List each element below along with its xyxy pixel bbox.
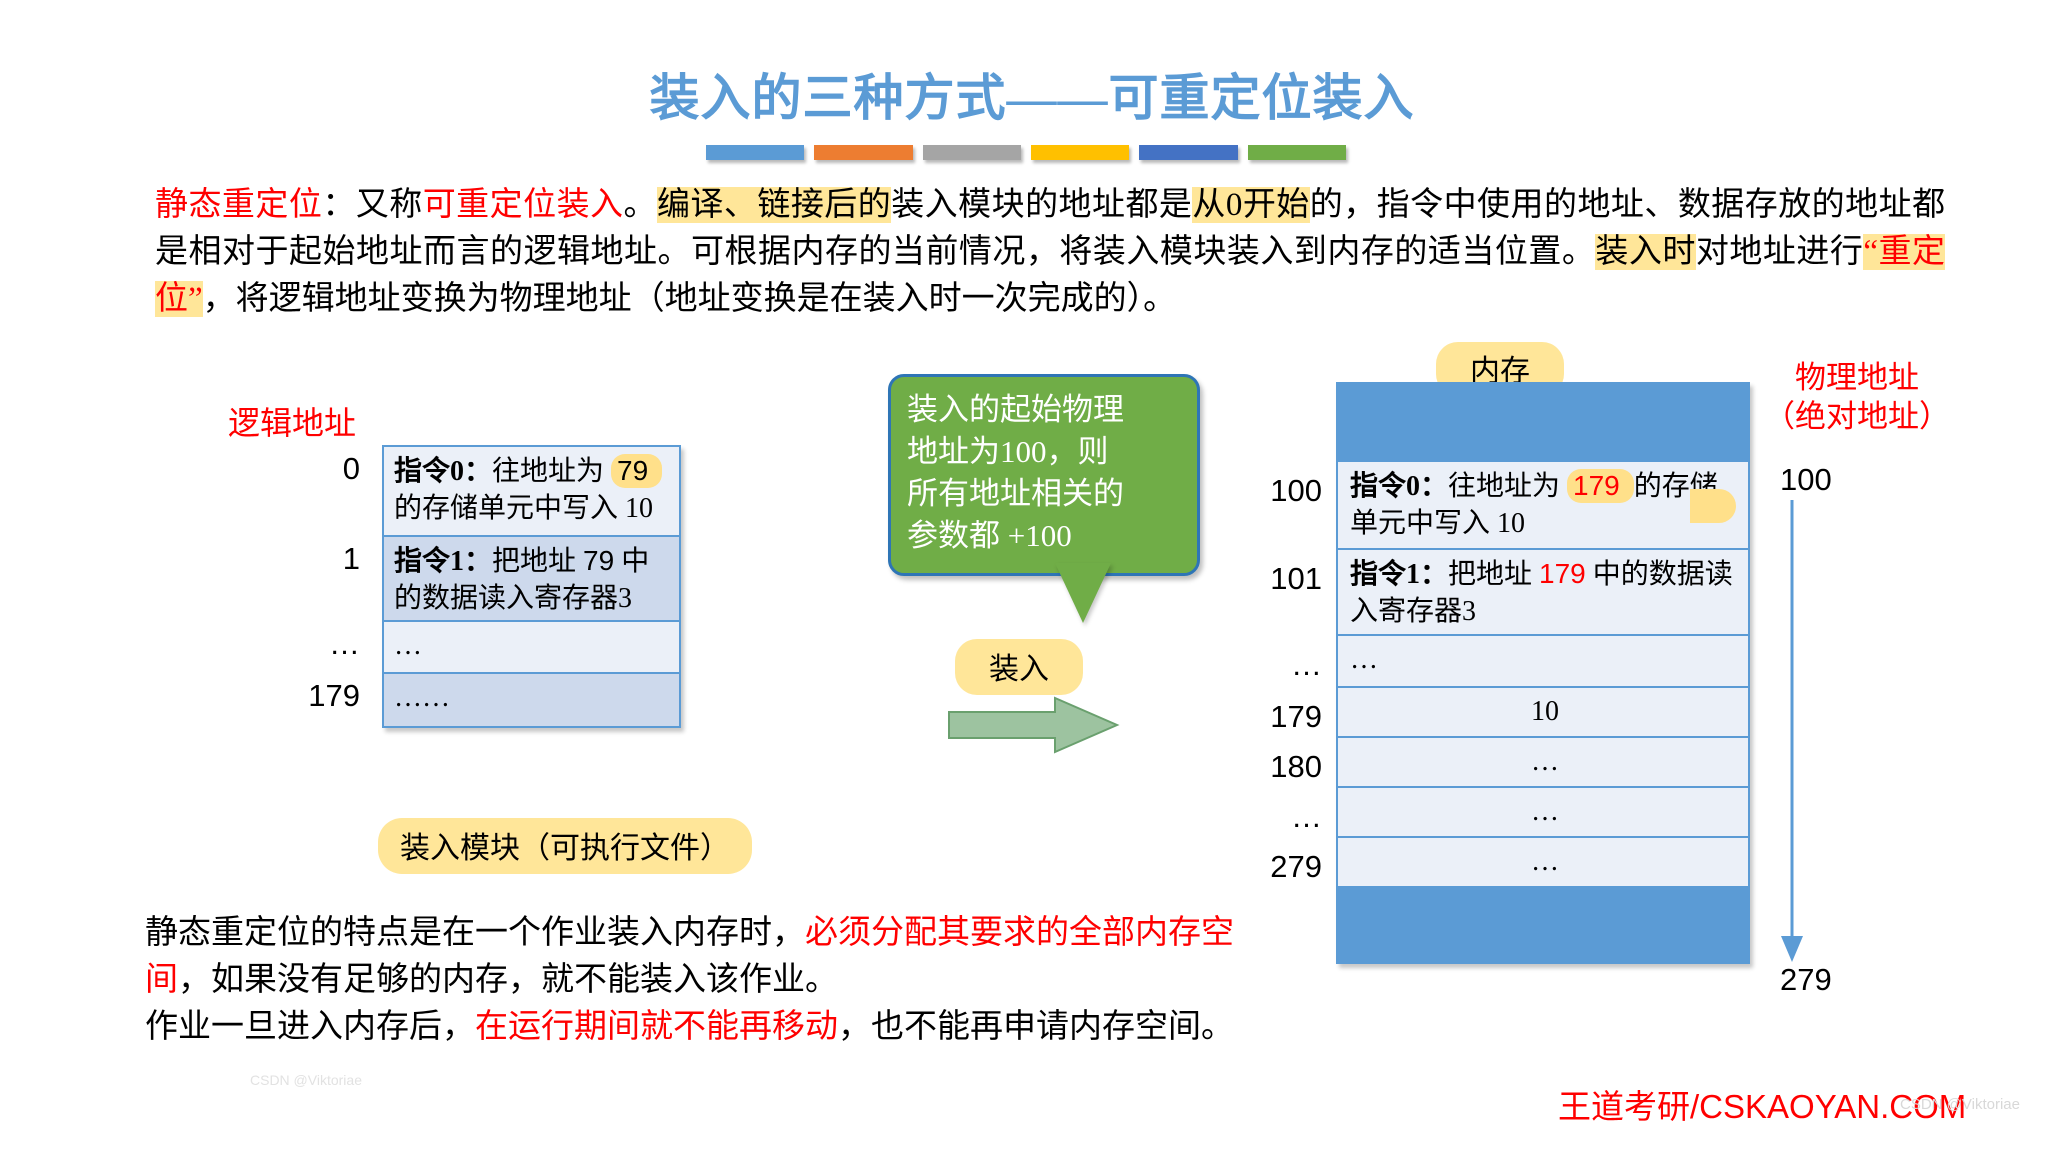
physical-address-line1: 物理地址 [1764,358,1950,397]
summary-p1a: 静态重定位的特点是在一个作业装入内存时， [145,915,805,951]
logical-row1-addr: 79 [583,545,614,576]
text-seg6: ，将逻辑地址变换为物理地址（地址变换是在装入时一次完成的）。 [203,281,1177,317]
punct-colon: ： [322,187,355,223]
text-seg2: 。 [624,187,657,223]
memory-row1-addr: 179 [1567,469,1634,503]
text-seg5: 对地址进行 [1696,234,1864,270]
table-row: 指令0：往地址为 179的存储单元中写入 10 [1338,462,1748,550]
text-seg1: 又称 [356,187,423,223]
memory-addr-180: 180 [1222,746,1322,796]
physical-address-marker-100: 100 [1780,462,1832,498]
load-arrow-icon [945,690,1125,760]
logical-row3-tail: …… [394,682,450,713]
table-row-reserved-top [1338,384,1748,462]
memory-row2-prefix: 指令1： [1350,559,1448,590]
bar-green [1248,145,1346,160]
table-row: … [1338,636,1748,688]
table-row: 10 [1338,688,1748,738]
logical-row0-tail: 的存储单元中写入 10 [394,493,653,524]
callout-line-4: 参数都 +100 [907,515,1183,557]
callout-box: 装入的起始物理 地址为100，则 所有地址相关的 参数都 +100 [888,374,1200,576]
callout-line-2: 地址为100，则 [907,431,1183,473]
decorative-color-bars [706,145,1346,160]
table-row: …… [384,674,679,726]
table-row-reserved-bottom [1338,888,1748,962]
page-title: 装入的三种方式——可重定位装入 [0,58,2064,130]
memory-addr-179: 179 [1222,696,1322,746]
summary-paragraph: 静态重定位的特点是在一个作业装入内存时，必须分配其要求的全部内存空间，如果没有足… [145,910,1235,1051]
highlight-start-from-zero: 从0开始 [1192,187,1309,223]
table-row: … [1338,838,1748,888]
intro-paragraph: 静态重定位：又称可重定位装入。编译、链接后的装入模块的地址都是从0开始的，指令中… [155,182,1945,323]
bar-yellow [1031,145,1129,160]
bar-orange [814,145,912,160]
callout-line-3: 所有地址相关的 [907,473,1183,515]
memory-row1-mid: 往地址为 [1448,471,1567,502]
address-range-arrow-icon [1778,500,1818,970]
text-seg3: 装入模块的地址都是 [891,187,1192,223]
bar-blue [706,145,804,160]
load-module-table: 指令0：往地址为 79的存储单元中写入 10 指令1：把地址 79 中的数据读入… [382,445,681,728]
memory-addr-100: 100 [1222,470,1322,558]
table-row: … [1338,738,1748,788]
physical-address-line2: （绝对地址） [1764,397,1950,436]
logical-row0-mid: 往地址为 [492,456,611,487]
memory-address-column: 100 101 … 179 180 … 279 [1222,470,1322,896]
logical-row0-addr: 79 [611,454,662,488]
highlight-compile-link: 编译、链接后的 [657,187,891,223]
callout-line-1: 装入的起始物理 [907,389,1183,431]
logical-address-column: 0 1 … 179 [270,448,360,727]
memory-addr-279: 279 [1222,846,1322,896]
memory-row4-text: 10 [1531,696,1559,727]
memory-table: 指令0：往地址为 179的存储单元中写入 10 指令1：把地址 179 中的数据… [1336,382,1750,964]
logical-addr-0: 0 [270,448,360,538]
memory-addr-dots2: … [1222,796,1322,846]
term-relocatable-loading: 可重定位装入 [423,187,624,223]
table-row: 指令1：把地址 79 中的数据读入寄存器3 [384,537,679,622]
summary-p1b: ，如果没有足够的内存，就不能装入该作业。 [178,962,838,998]
memory-row2-addr: 179 [1539,558,1586,589]
watermark-faint-right: CSDN @Viktoriae [1900,1096,2020,1113]
logical-row1-mid: 把地址 [492,546,583,577]
highlight-pill-179 [1690,489,1736,523]
memory-row3-text: … [1350,644,1378,675]
load-module-caption: 装入模块（可执行文件） [378,818,752,874]
summary-line-1: 静态重定位的特点是在一个作业装入内存时，必须分配其要求的全部内存空间，如果没有足… [145,910,1235,1004]
summary-p2b: ，也不能再申请内存空间。 [838,1009,1234,1045]
load-action-label: 装入 [955,639,1083,695]
term-static-relocation: 静态重定位 [155,187,322,223]
bar-gray [923,145,1021,160]
memory-row7-text: … [1531,846,1559,877]
logical-address-label: 逻辑地址 [228,398,356,444]
logical-addr-dots: … [270,623,360,675]
summary-line-2: 作业一旦进入内存后，在运行期间就不能再移动，也不能再申请内存空间。 [145,1004,1235,1051]
summary-p2-red: 在运行期间就不能再移动 [475,1009,838,1045]
table-row: … [1338,788,1748,838]
memory-row2-mid: 把地址 [1448,559,1539,590]
physical-address-label: 物理地址 （绝对地址） [1764,358,1950,436]
table-row: 指令1：把地址 179 中的数据读入寄存器3 [1338,550,1748,636]
logical-row0-prefix: 指令0： [394,456,492,487]
logical-row2-tail: … [394,630,422,661]
memory-addr-101: 101 [1222,558,1322,644]
logical-row1-prefix: 指令1： [394,546,492,577]
highlight-at-load-time: 装入时 [1595,234,1696,270]
bar-navy [1139,145,1237,160]
logical-addr-179: 179 [270,675,360,727]
table-row: … [384,622,679,674]
memory-row6-text: … [1531,796,1559,827]
callout-tail [1055,563,1111,623]
memory-row1-prefix: 指令0： [1350,471,1448,502]
memory-row5-text: … [1531,746,1559,777]
watermark-faint-left: CSDN @Viktoriae [250,1072,362,1088]
table-row: 指令0：往地址为 79的存储单元中写入 10 [384,447,679,537]
logical-addr-1: 1 [270,538,360,623]
memory-addr-dots1: … [1222,644,1322,696]
summary-p2a: 作业一旦进入内存后， [145,1009,475,1045]
